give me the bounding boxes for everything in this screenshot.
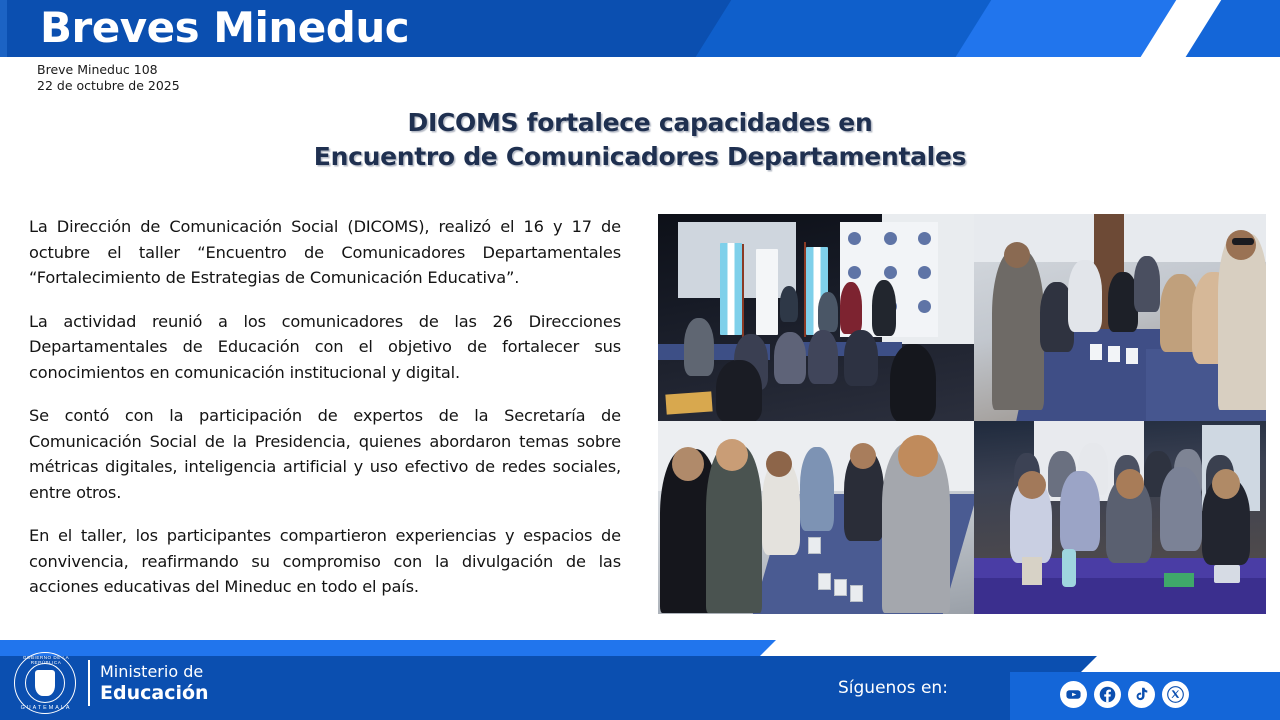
headline-line-2: Encuentro de Comunicadores Departamental… <box>150 140 1130 174</box>
ministry-line-2: Educación <box>100 682 209 704</box>
photo-grid <box>658 214 1266 614</box>
footer-accent-bar <box>0 640 760 656</box>
article-paragraph: La actividad reunió a los comunicadores … <box>29 309 621 386</box>
photo-auditorium-flags-presentation <box>658 214 974 421</box>
bulletin-meta: Breve Mineduc 108 22 de octubre de 2025 <box>37 62 180 94</box>
guatemala-government-seal-icon: GOBIERNO DE LA REPÚBLICA GUATEMALA <box>14 652 76 714</box>
photo-group-standing-around-table <box>974 214 1266 421</box>
article-body: La Dirección de Comunicación Social (DIC… <box>29 214 621 600</box>
article-paragraph: La Dirección de Comunicación Social (DIC… <box>29 214 621 291</box>
article-headline: DICOMS fortalece capacidades en Encuentr… <box>150 106 1130 174</box>
footer-divider <box>88 660 90 706</box>
seal-bottom-text: GUATEMALA <box>15 705 77 711</box>
breves-mineduc-bulletin: Breves Mineduc Breve Mineduc 108 22 de o… <box>0 0 1280 720</box>
social-links[interactable] <box>1060 681 1189 708</box>
bulletin-issue: Breve Mineduc 108 <box>37 62 180 78</box>
header-banner: Breves Mineduc <box>0 0 1280 57</box>
x-twitter-icon[interactable] <box>1162 681 1189 708</box>
article-paragraph: En el taller, los participantes comparti… <box>29 523 621 600</box>
bulletin-date: 22 de octubre de 2025 <box>37 78 180 94</box>
photo-audience-seated-at-tables <box>974 421 1266 614</box>
ministry-brand: Ministerio de Educación <box>100 662 209 704</box>
tiktok-icon[interactable] <box>1128 681 1155 708</box>
header-left-accent <box>0 0 7 57</box>
facebook-icon[interactable] <box>1094 681 1121 708</box>
follow-us-label: Síguenos en: <box>838 678 948 698</box>
page-title: Breves Mineduc <box>40 2 409 54</box>
youtube-icon[interactable] <box>1060 681 1087 708</box>
headline-line-1: DICOMS fortalece capacidades en <box>150 106 1130 140</box>
article-paragraph: Se contó con la participación de experto… <box>29 403 621 505</box>
photo-participants-working-at-long-table <box>658 421 974 614</box>
ministry-line-1: Ministerio de <box>100 662 209 682</box>
